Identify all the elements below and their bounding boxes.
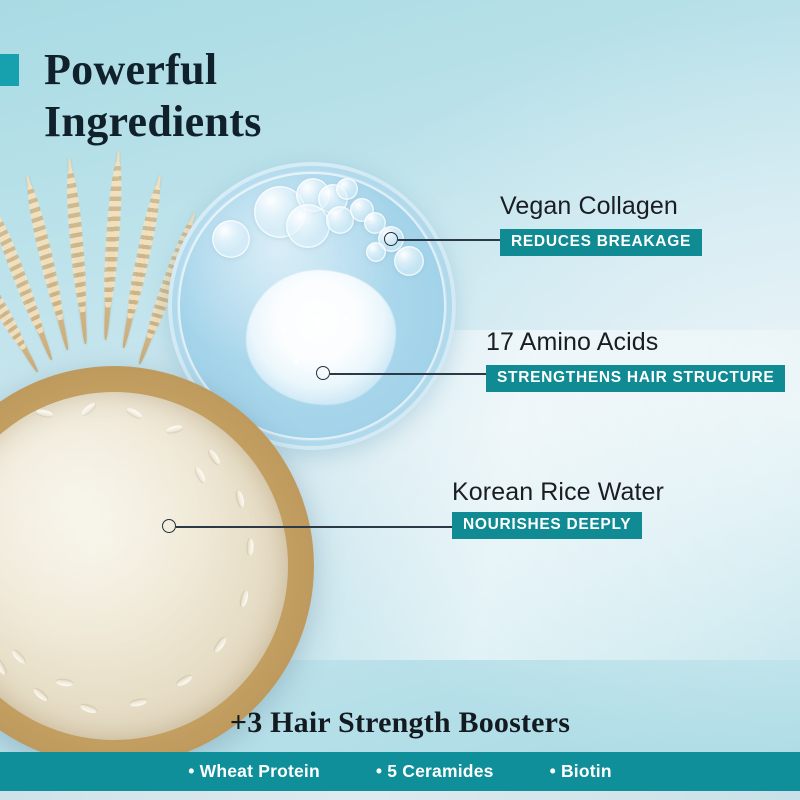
bowl-highlight (0, 392, 288, 740)
ingredients-bar: • Wheat Protein • 5 Ceramides • Biotin (0, 752, 800, 791)
callout-badge: REDUCES BREAKAGE (500, 229, 702, 256)
rice-stalk (24, 174, 71, 351)
bar-item-ceramides: • 5 Ceramides (376, 761, 494, 782)
callout-dot (316, 366, 330, 380)
title-line-1: Powerful (44, 45, 217, 94)
rice-stalk (102, 150, 122, 340)
callout-badge: STRENGTHENS HAIR STRUCTURE (486, 365, 785, 392)
callout-label: 17 Amino Acids (486, 328, 658, 357)
callout-line (176, 526, 452, 528)
bottom-strip (0, 791, 800, 800)
bubble (286, 204, 330, 248)
bar-item-biotin: • Biotin (550, 761, 612, 782)
callout-badge: NOURISHES DEEPLY (452, 512, 642, 539)
bubble (394, 246, 424, 276)
bubble (212, 220, 250, 258)
callout-label: Korean Rice Water (452, 478, 664, 507)
callout-line (398, 239, 500, 241)
bar-item-wheat-protein: • Wheat Protein (188, 761, 320, 782)
callout-line (330, 373, 486, 375)
callout-label: Vegan Collagen (500, 192, 678, 221)
bowl-liquid (0, 392, 288, 740)
boosters-heading: +3 Hair Strength Boosters (0, 706, 800, 740)
title-accent-bar (0, 54, 19, 86)
rice-stalks-image (18, 168, 168, 398)
white-powder (246, 270, 396, 405)
rice-stalk (66, 157, 89, 344)
title-line-2: Ingredients (44, 96, 464, 148)
page-title: Powerful Ingredients (44, 44, 464, 148)
callout-dot (162, 519, 176, 533)
bubble (336, 178, 358, 200)
callout-dot (384, 232, 398, 246)
infographic-canvas: Powerful Ingredients (0, 0, 800, 800)
bubble (366, 242, 386, 262)
